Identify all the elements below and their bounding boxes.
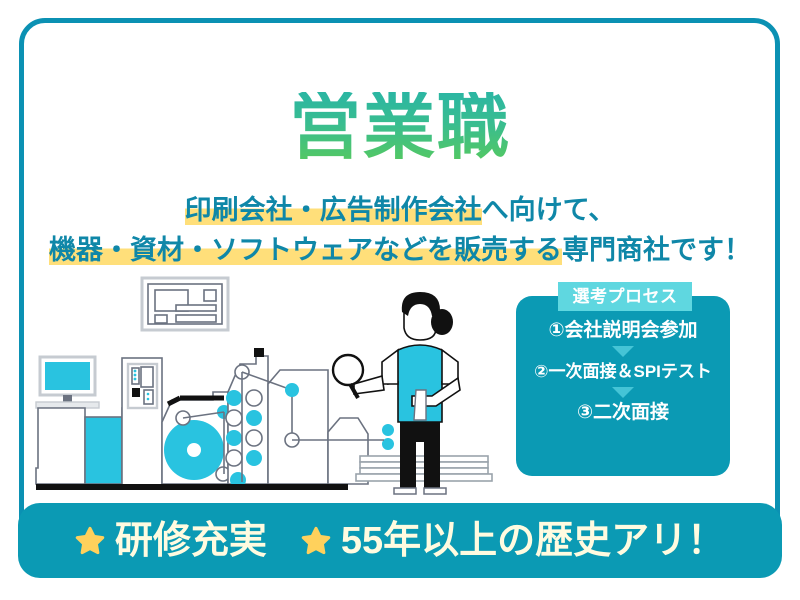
highlights-banner-content: 研修充実 55年以上の歴史アリ！ [75, 521, 725, 561]
selection-process-panel: 選考プロセス ①会社説明会参加 ②一次面接＆SPIテスト ③二次面接 [516, 296, 730, 476]
page-title: 営業職 [289, 92, 511, 164]
headline-container: 営業職 [0, 92, 800, 164]
control-panel-display-icon [142, 278, 228, 330]
subtitle-line-2-rest: 専門商社です！ [562, 235, 751, 265]
chevron-down-icon [612, 387, 634, 398]
printing-press-illustration [28, 272, 498, 500]
printing-press-svg [28, 272, 498, 500]
process-panel-title: 選考プロセス [558, 282, 692, 311]
subtitle-line-2-highlight: 機器・資材・ソフトウェアなどを販売する [49, 235, 562, 265]
poster-canvas: 営業職 印刷会社・広告制作会社へ向けて、 機器・資材・ソフトウェアなどを販売する… [0, 0, 800, 600]
subtitle-line-1-highlight: 印刷会社・広告制作会社 [185, 195, 482, 225]
process-steps-list: ①会社説明会参加 ②一次面接＆SPIテスト ③二次面接 [516, 318, 730, 426]
subtitle-line-1: 印刷会社・広告制作会社へ向けて、 [0, 190, 800, 230]
highlight-item-2: 55年以上の歴史アリ！ [341, 521, 725, 561]
subtitle-line-1-rest: へ向けて、 [482, 195, 616, 225]
subtitle-line-2: 機器・資材・ソフトウェアなどを販売する専門商社です！ [0, 230, 800, 270]
process-step-1: ①会社説明会参加 [516, 318, 730, 344]
process-step-2: ②一次面接＆SPIテスト [516, 359, 730, 385]
star-icon [75, 526, 105, 556]
highlight-item-1: 研修充実 [115, 521, 267, 561]
star-icon [301, 526, 331, 556]
monitor-screen-icon [36, 357, 99, 408]
highlights-banner: 研修充実 55年以上の歴史アリ！ [18, 503, 782, 578]
operator-console-icon [122, 358, 162, 488]
process-step-3: ③二次面接 [516, 400, 730, 426]
chevron-down-icon [612, 346, 634, 357]
subtitle-block: 印刷会社・広告制作会社へ向けて、 機器・資材・ソフトウェアなどを販売する専門商社… [0, 190, 800, 270]
